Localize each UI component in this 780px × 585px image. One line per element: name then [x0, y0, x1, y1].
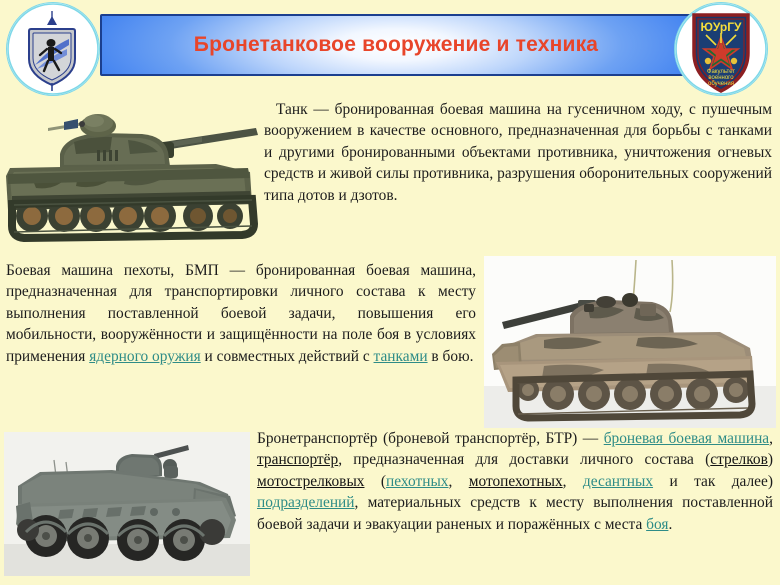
link-strelkov[interactable]: стрелков — [710, 451, 768, 468]
link-transporter[interactable]: транспортёр — [257, 451, 338, 468]
page-title: Бронетанковое вооружение и техника — [100, 14, 692, 76]
bmp-photo — [484, 256, 776, 428]
link-tankami[interactable]: танками — [374, 348, 428, 365]
link-yadernogo-oruzhiya[interactable]: ядерного оружия — [89, 348, 200, 365]
link-podrazdeleniy[interactable]: подразделений — [257, 494, 355, 511]
btr-text-part-1: Бронетранспортёр (броневой транспортёр, … — [257, 430, 604, 447]
tank-illustration — [2, 92, 264, 250]
military-faculty-emblem: ЮУрГУ Факультет военного обучения — [674, 2, 768, 96]
link-boya[interactable]: боя — [646, 516, 668, 533]
btr-illustration — [4, 432, 250, 576]
btr-text-part-4: ) — [768, 451, 773, 468]
btr-text-part-2: , — [769, 430, 773, 447]
link-desantnyh[interactable]: десантных — [583, 473, 653, 490]
university-crest-icon — [7, 3, 99, 95]
link-pehotnyh[interactable]: пехотных — [386, 473, 448, 490]
btr-text-part-5: ( — [364, 473, 386, 490]
military-faculty-emblem-icon: ЮУрГУ Факультет военного обучения — [675, 3, 767, 95]
btr-text-part-8: и так далее) — [653, 473, 773, 490]
tank-description-text: Танк — бронированная боевая машина на гу… — [264, 101, 772, 204]
presentation-slide: Бронетанковое вооружение и техника ЮУрГУ — [0, 0, 780, 585]
emblem-abbr-text: ЮУрГУ — [701, 20, 743, 34]
btr-text-part-7: , — [563, 473, 583, 490]
btr-photo — [4, 432, 250, 576]
bmp-text-part-3: в бою. — [428, 348, 474, 365]
btr-text-part-3: , предназначенная для доставки личного с… — [338, 451, 710, 468]
btr-text-part-6: , — [448, 473, 468, 490]
tank-photo — [2, 92, 264, 250]
bmp-illustration — [484, 256, 776, 428]
btr-description: Бронетранспортёр (броневой транспортёр, … — [257, 428, 773, 535]
link-bronevaya-boevaya-mashina[interactable]: броневая боевая машина — [604, 430, 769, 447]
link-motopehotnyh[interactable]: мотопехотных — [469, 473, 563, 490]
bmp-description: Боевая машина пехоты, БМП — бронированна… — [6, 260, 476, 367]
tank-description: Танк — бронированная боевая машина на гу… — [264, 99, 772, 206]
btr-text-part-10: . — [668, 516, 672, 533]
link-motostrelkovyh[interactable]: мотострелковых — [257, 473, 364, 490]
bmp-text-part-2: и совместных действий с — [201, 348, 374, 365]
university-crest-logo — [6, 2, 100, 96]
emblem-caption-line3: обучения — [708, 81, 734, 87]
